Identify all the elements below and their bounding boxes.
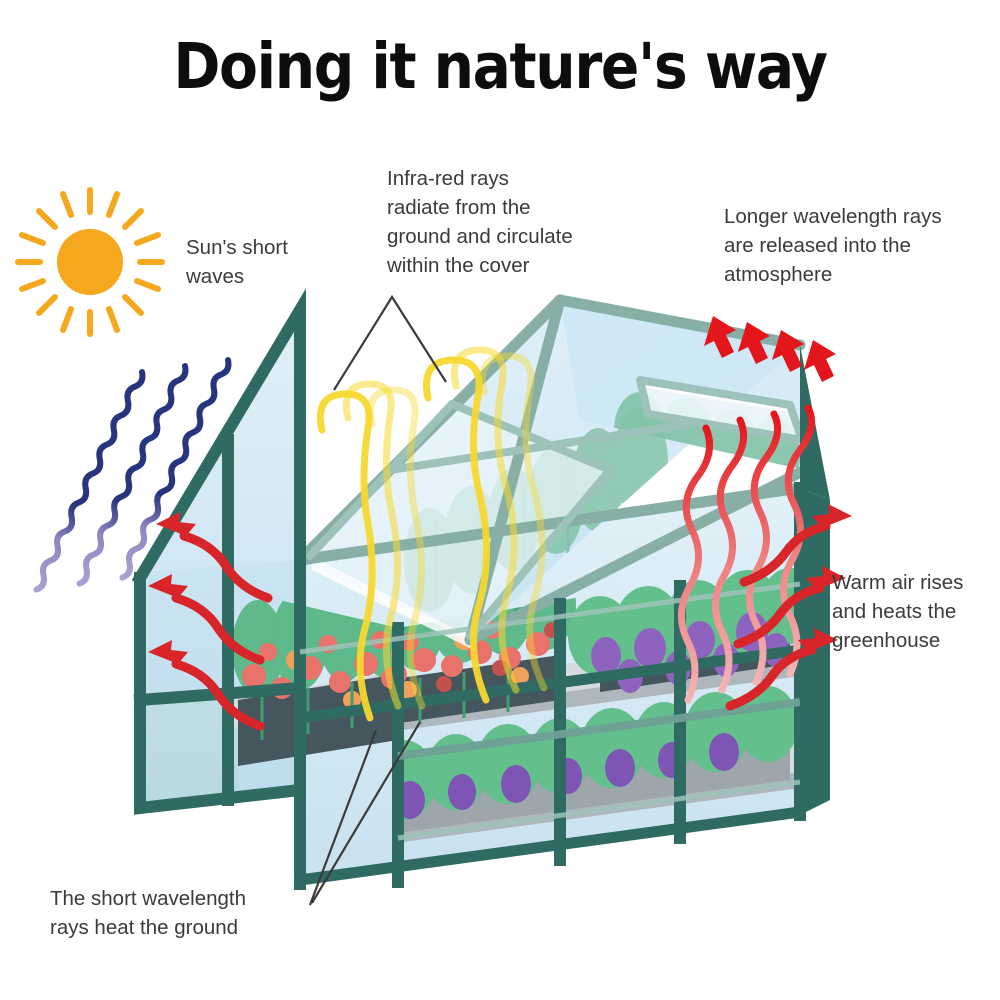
caption-infrared-rays: Infra-red rays radiate from the ground a…: [387, 164, 617, 280]
caption-sun-short-waves: Sun's short waves: [186, 233, 356, 291]
caption-warm-air-rises: Warm air rises and heats the greenhouse: [832, 568, 1000, 655]
sun-icon: [18, 190, 162, 334]
caption-longer-wavelength: Longer wavelength rays are released into…: [724, 202, 974, 289]
greenhouse-illustration: [0, 0, 1000, 1000]
caption-short-wavelength-ground: The short wavelength rays heat the groun…: [50, 884, 340, 942]
page-title: Doing it nature's way: [50, 34, 950, 100]
infographic-canvas: Doing it nature's way Sun's short waves …: [0, 0, 1000, 1000]
